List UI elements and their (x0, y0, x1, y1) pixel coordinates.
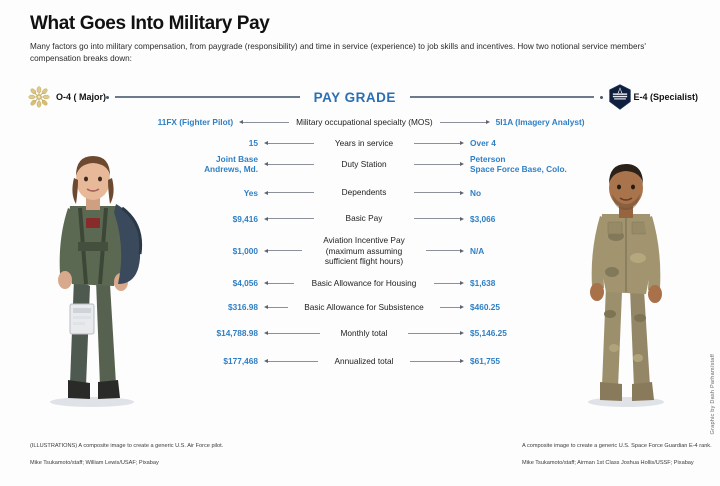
row-duty-right-line2: Space Force Base, Colo. (470, 164, 592, 174)
row-dependents-label: Dependents (337, 187, 392, 198)
gold-oak-leaf-insignia (26, 85, 52, 109)
row-years-arrow-left (264, 141, 314, 145)
right-connector-dot (600, 96, 603, 99)
row-monthly-arrow-right (408, 331, 464, 335)
row-aviation-label: Aviation Incentive Pay (maximum assuming… (307, 235, 421, 267)
row-basic-pay-label: Basic Pay (341, 213, 388, 224)
row-basic-pay-left-value: $9,416 (140, 214, 264, 224)
row-annual-left-value: $177,468 (140, 356, 264, 366)
row-aviation-left-value: $1,000 (140, 246, 264, 256)
row-years-in-service: 15 Years in service Over 4 (140, 133, 592, 153)
row-basic-pay-right-value: $3,066 (464, 214, 592, 224)
row-bas-right-value: $460.25 (464, 302, 592, 312)
row-monthly-arrow-left (264, 331, 320, 335)
row-duty-left-line2: Andrews, Md. (140, 164, 258, 174)
row-aviation-label-line2: (maximum assuming (326, 246, 403, 256)
row-duty-label: Duty Station (336, 159, 391, 170)
paygrade-line-right (410, 96, 595, 98)
row-dependents-arrow-right (414, 191, 464, 195)
row-monthly-right-value: $5,146.25 (464, 328, 592, 338)
row-years-label: Years in service (330, 138, 398, 149)
row-duty-right-value: Peterson Space Force Base, Colo. (464, 154, 592, 175)
space-force-e4-insignia (607, 84, 633, 110)
left-rank-label: O-4 ( Major) (56, 92, 106, 102)
row-years-left-value: 15 (140, 138, 264, 148)
comparison-rows: 11FX (Fighter Pilot) Military occupation… (140, 112, 592, 372)
row-aviation-arrow-left (264, 249, 302, 253)
row-bas-left-value: $316.98 (140, 302, 264, 312)
row-duty-arrow-left (264, 162, 314, 166)
row-annual-arrow-right (410, 359, 464, 363)
row-dependents-right-value: No (464, 188, 592, 198)
row-bas-arrow-left (264, 305, 288, 309)
paygrade-line-left (115, 96, 300, 98)
row-aviation-incentive-pay: $1,000 Aviation Incentive Pay (maximum a… (140, 235, 592, 267)
caption-right: A composite image to create a generic U.… (522, 442, 712, 468)
row-annual-arrow-left (264, 359, 318, 363)
row-basic-pay-arrow-left (264, 217, 314, 221)
row-aviation-label-line3: sufficient flight hours) (325, 256, 403, 266)
row-duty-right-line1: Peterson (470, 154, 592, 164)
row-dependents: Yes Dependents No (140, 183, 592, 203)
row-mos-arrow-left (239, 120, 289, 124)
row-annual-right-value: $61,755 (464, 356, 592, 366)
row-bas-arrow-right (440, 305, 464, 309)
row-mos: 11FX (Fighter Pilot) Military occupation… (140, 112, 592, 132)
row-monthly-total: $14,788.98 Monthly total $5,146.25 (140, 323, 592, 343)
row-bah: $4,056 Basic Allowance for Housing $1,63… (140, 273, 592, 293)
row-dependents-left-value: Yes (140, 188, 264, 198)
row-bah-right-value: $1,638 (464, 278, 592, 288)
row-monthly-left-value: $14,788.98 (140, 328, 264, 338)
row-bah-arrow-left (264, 281, 294, 285)
header: What Goes Into Military Pay Many factors… (30, 14, 690, 65)
row-dependents-arrow-left (264, 191, 314, 195)
paygrade-bar: O-4 ( Major) PAY GRADE E-4 (Specialist) (26, 84, 698, 110)
row-mos-label: Military occupational specialty (MOS) (291, 117, 437, 128)
row-duty-arrow-right (414, 162, 464, 166)
row-duty-left-line1: Joint Base (140, 154, 258, 164)
row-bah-left-value: $4,056 (140, 278, 264, 288)
caption-left-description: (ILLUSTRATIONS) A composite image to cre… (30, 442, 245, 451)
caption-left-credit: Mike Tsukamoto/staff; William Lewis/USAF… (30, 459, 245, 468)
row-duty-station: Joint Base Andrews, Md. Duty Station Pet… (140, 154, 592, 175)
row-annualized-total: $177,468 Annualized total $61,755 (140, 351, 592, 371)
caption-right-description: A composite image to create a generic U.… (522, 442, 712, 451)
row-aviation-arrow-right (426, 249, 464, 253)
row-years-right-value: Over 4 (464, 138, 592, 148)
row-bas-label: Basic Allowance for Subsistence (299, 302, 428, 313)
row-bas: $316.98 Basic Allowance for Subsistence … (140, 297, 592, 317)
row-aviation-right-value: N/A (464, 246, 592, 256)
caption-left: (ILLUSTRATIONS) A composite image to cre… (30, 442, 245, 468)
row-monthly-label: Monthly total (335, 328, 392, 339)
row-mos-right-value: 5I1A (Imagery Analyst) (490, 117, 592, 127)
left-connector-dot (106, 96, 109, 99)
row-basic-pay-arrow-right (414, 217, 464, 221)
page-title: What Goes Into Military Pay (30, 14, 690, 35)
paygrade-section-title: PAY GRADE (306, 90, 404, 105)
row-bah-label: Basic Allowance for Housing (307, 278, 422, 289)
row-mos-left-value: 11FX (Fighter Pilot) (140, 117, 239, 127)
page-deck: Many factors go into military compensati… (30, 41, 685, 65)
infographic-page: What Goes Into Military Pay Many factors… (0, 0, 720, 486)
row-duty-left-value: Joint Base Andrews, Md. (140, 154, 264, 175)
row-basic-pay: $9,416 Basic Pay $3,066 (140, 209, 592, 229)
right-rank-label: E-4 (Specialist) (633, 92, 698, 102)
row-bah-arrow-right (434, 281, 464, 285)
row-aviation-label-line1: Aviation Incentive Pay (323, 235, 404, 245)
row-years-arrow-right (414, 141, 464, 145)
graphic-credit-vertical: Graphic by Dash Parham/staff (710, 354, 716, 434)
caption-right-credit: Mike Tsukamoto/staff; Airman 1st Class J… (522, 459, 712, 468)
row-mos-arrow-right (440, 120, 490, 124)
row-annual-label: Annualized total (329, 356, 398, 367)
